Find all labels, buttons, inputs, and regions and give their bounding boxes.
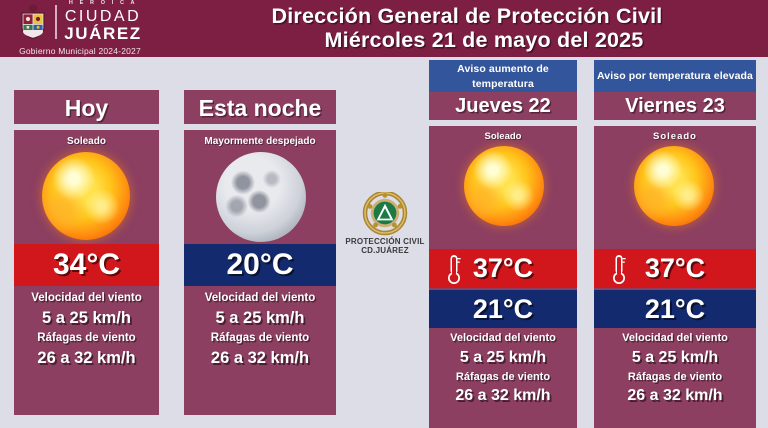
brand-ciudad: CIUDAD [65, 9, 141, 25]
temperature-low-jueves: 21°C [429, 290, 577, 328]
card-divider-jueves [429, 120, 577, 126]
wind-speed-value: 5 a 25 km/h [14, 307, 159, 330]
wind-speed-value: 5 a 25 km/h [429, 347, 577, 369]
wind-gusts-label: Ráfagas de viento [184, 330, 336, 347]
day-title-jueves: Jueves 22 [429, 92, 577, 120]
page-subtitle-date: Miércoles 21 de mayo del 2025 [291, 28, 644, 52]
temperature-esta-noche: 20°C [184, 244, 336, 286]
coat-of-arms-icon [18, 4, 48, 40]
condition-label-jueves: Soleado [429, 131, 577, 142]
card-divider-noche [184, 124, 336, 130]
wind-info-hoy: Velocidad del viento 5 a 25 km/h Ráfagas… [14, 290, 159, 370]
wind-gusts-label: Ráfagas de viento [594, 369, 756, 386]
day-title-viernes: Viernes 23 [594, 92, 756, 120]
wind-info-jueves: Velocidad del viento 5 a 25 km/h Ráfagas… [429, 330, 577, 407]
wind-info-viernes: Velocidad del viento 5 a 25 km/h Ráfagas… [594, 330, 756, 407]
wind-gusts-value: 26 a 32 km/h [14, 347, 159, 370]
wind-speed-value: 5 a 25 km/h [594, 347, 756, 369]
thermometer-icon [445, 253, 463, 285]
wind-gusts-label: Ráfagas de viento [14, 330, 159, 347]
temperature-hoy: 34°C [14, 244, 159, 286]
condition-label-hoy: Soleado [14, 136, 159, 147]
wind-speed-label: Velocidad del viento [184, 290, 336, 307]
wind-gusts-value: 26 a 32 km/h [184, 347, 336, 370]
card-divider-viernes [594, 120, 756, 126]
alert-banner-viernes: Aviso por temperatura elevada [594, 60, 756, 94]
condition-label-viernes: Soleado [594, 131, 756, 142]
wind-gusts-label: Ráfagas de viento [429, 369, 577, 386]
wind-speed-value: 5 a 25 km/h [184, 307, 336, 330]
proteccion-civil-shield-icon [362, 192, 408, 236]
wind-info-esta-noche: Velocidad del viento 5 a 25 km/h Ráfagas… [184, 290, 336, 370]
day-title-esta-noche: Esta noche [184, 92, 336, 124]
temperature-high-viernes: 37°C [594, 249, 756, 288]
brand-government-period: Gobierno Municipal 2024-2027 [19, 46, 141, 56]
wind-gusts-value: 26 a 32 km/h [594, 385, 756, 407]
thermometer-icon [610, 253, 628, 285]
proteccion-civil-logo: PROTECCIÓN CIVIL CD.JUÁREZ [343, 192, 427, 264]
temperature-low-viernes: 21°C [594, 290, 756, 328]
proteccion-civil-line1: PROTECCIÓN CIVIL [345, 237, 424, 246]
municipal-brand: H E R O I C A CIUDAD JUÁREZ Gobierno Mun… [0, 0, 160, 57]
sun-icon [42, 152, 130, 240]
brand-divider [55, 5, 57, 39]
wind-gusts-value: 26 a 32 km/h [429, 385, 577, 407]
condition-label-noche: Mayormente despejado [184, 136, 336, 147]
temperature-high-viernes-value: 37°C [645, 253, 705, 284]
brand-heroica: H E R O I C A [69, 1, 137, 7]
proteccion-civil-line2: CD.JUÁREZ [361, 246, 409, 255]
page-title: Dirección General de Protección Civil [272, 5, 663, 28]
alert-banner-jueves: Aviso aumento de temperatura [429, 60, 577, 94]
moon-icon [216, 152, 306, 242]
wind-speed-label: Velocidad del viento [14, 290, 159, 307]
wind-speed-label: Velocidad del viento [594, 330, 756, 347]
day-title-hoy: Hoy [14, 92, 159, 124]
temperature-high-jueves: 37°C [429, 249, 577, 288]
weather-forecast-graphic: H E R O I C A CIUDAD JUÁREZ Gobierno Mun… [0, 0, 768, 428]
sun-icon [634, 146, 714, 226]
brand-juarez: JUÁREZ [64, 25, 142, 42]
header-bar: H E R O I C A CIUDAD JUÁREZ Gobierno Mun… [0, 0, 768, 57]
temperature-high-jueves-value: 37°C [473, 253, 533, 284]
card-divider-hoy [14, 124, 159, 130]
wind-speed-label: Velocidad del viento [429, 330, 577, 347]
header-title-block: Dirección General de Protección Civil Mi… [160, 5, 768, 52]
sun-icon [464, 146, 544, 226]
